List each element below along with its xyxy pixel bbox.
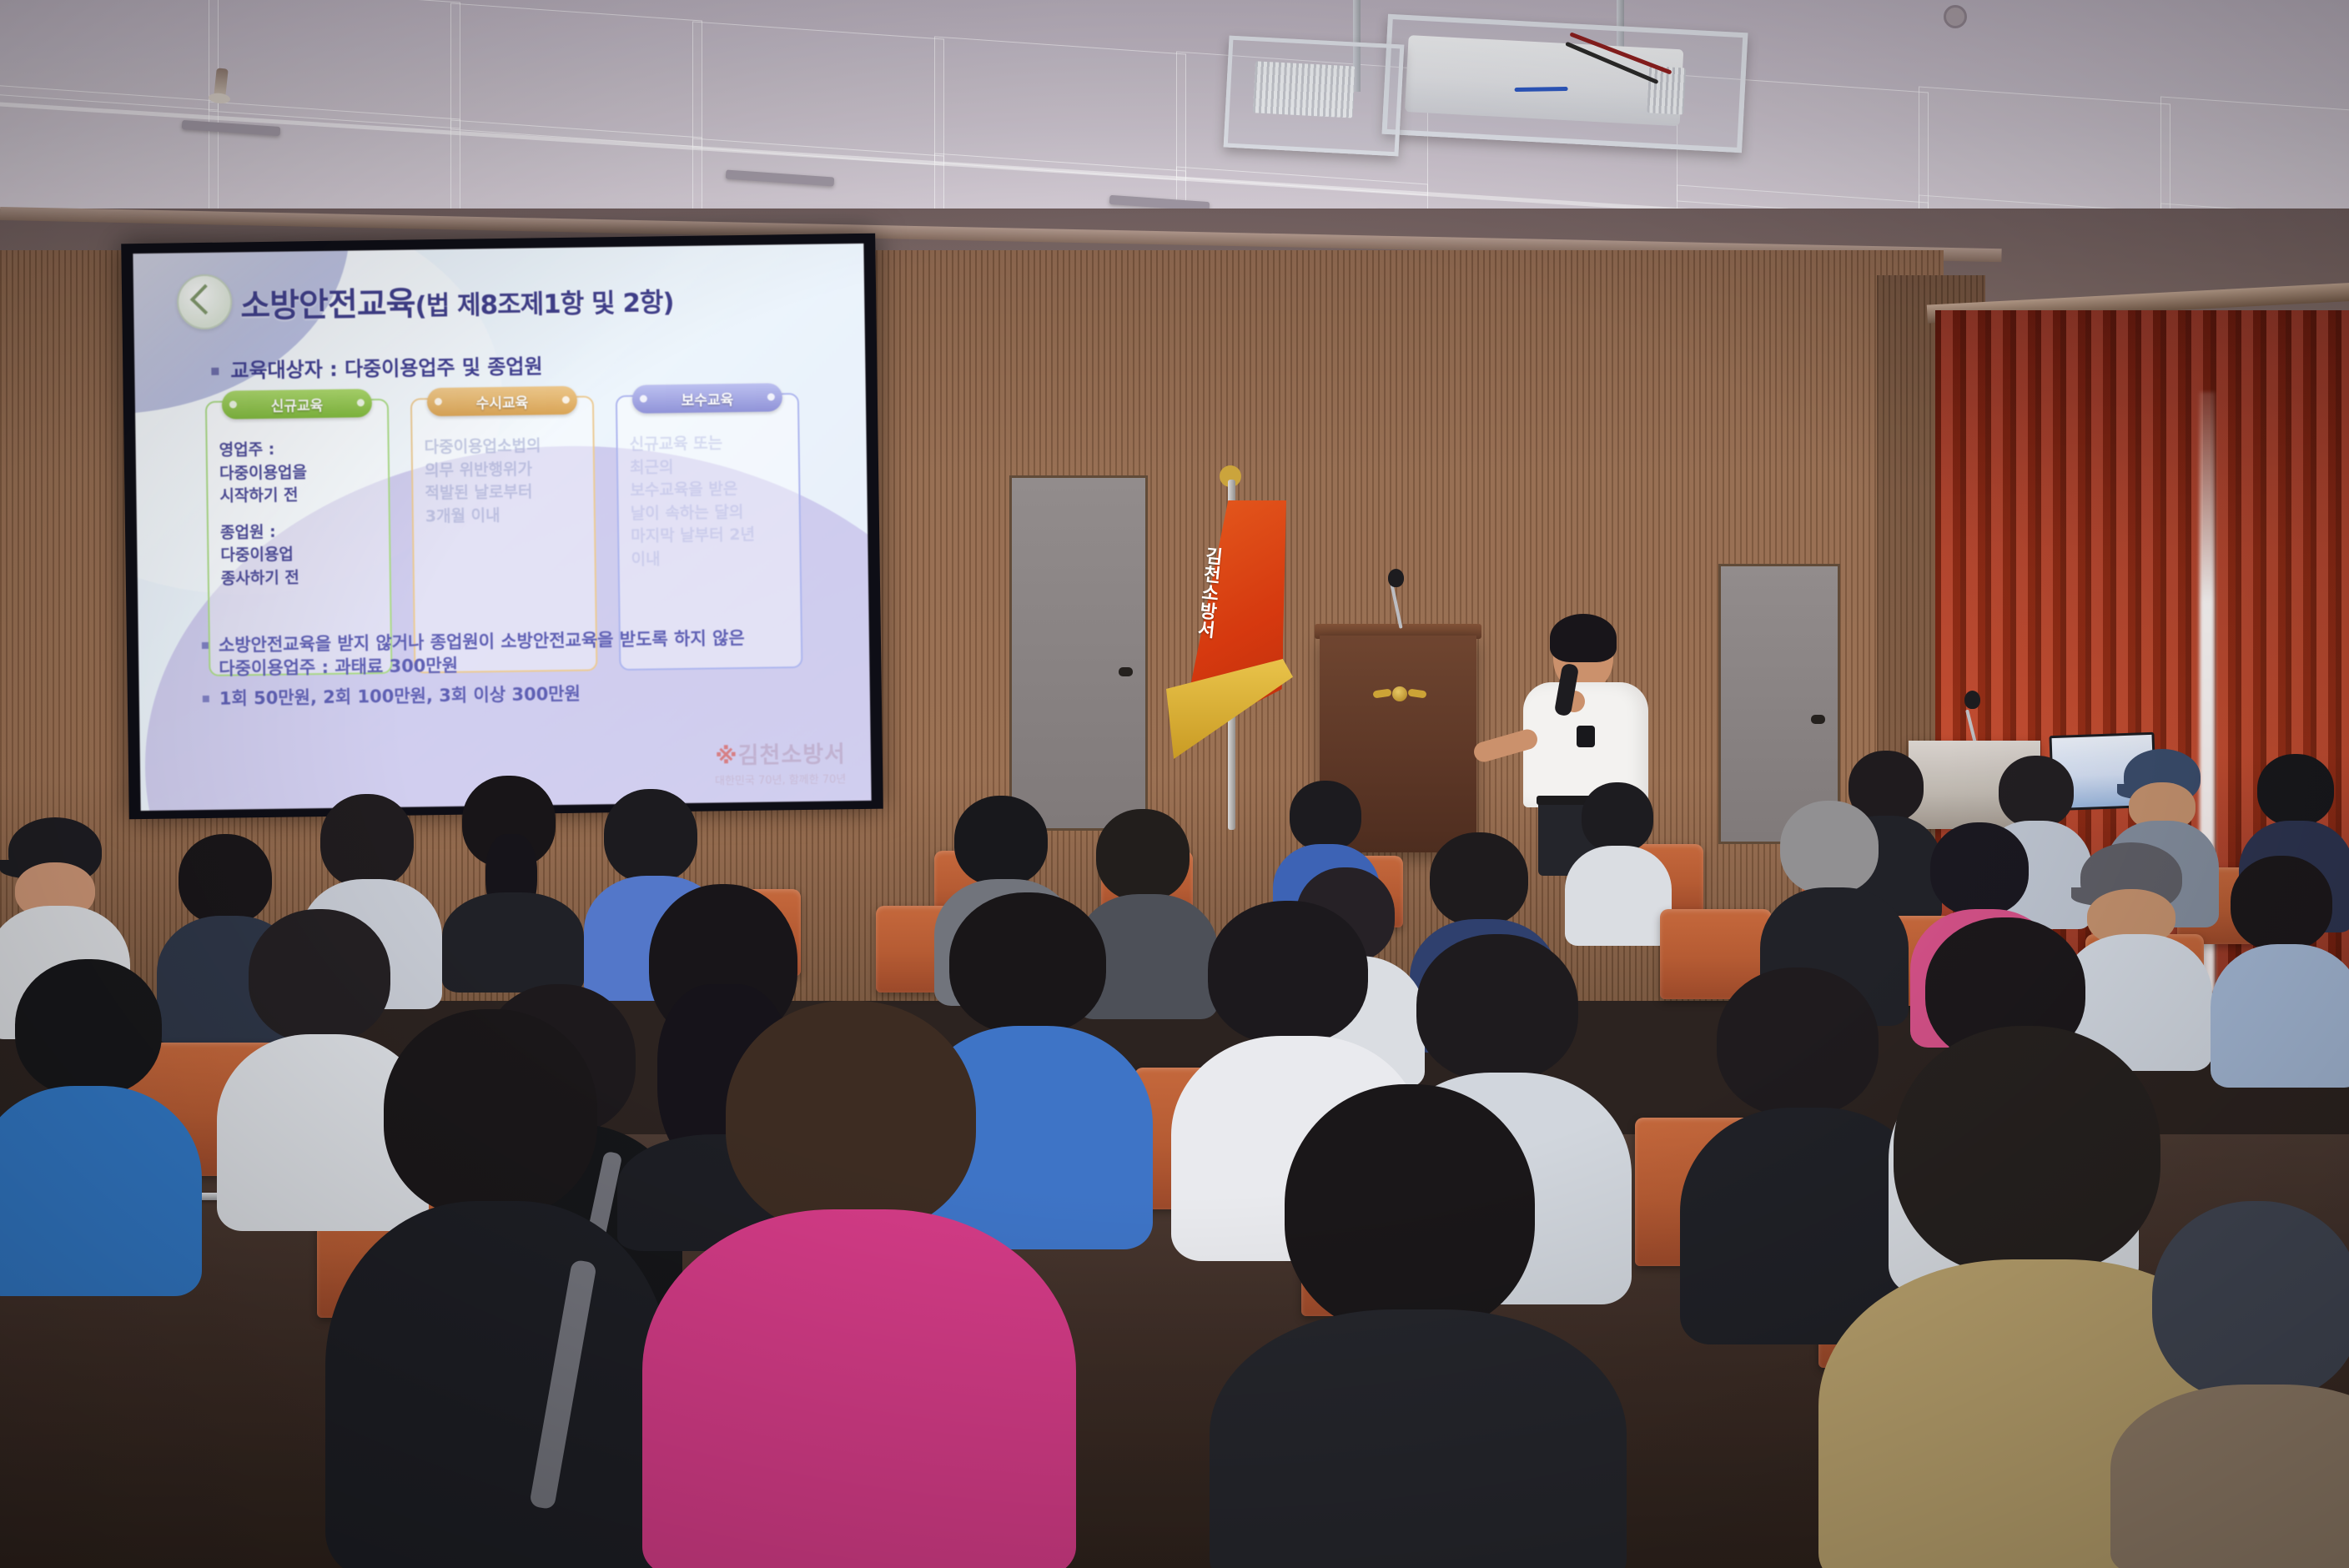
box-line: 최근의 [630,455,787,480]
podium-microphone [1385,567,1410,627]
audience-member [2219,856,2349,1086]
slide-title-main: 소방안전교육 [240,285,415,325]
person-hair [1290,781,1361,851]
wristwatch-icon [1577,726,1595,747]
box-line: 종업원 : [220,520,377,545]
box-line: 다중이용업을 [219,460,376,485]
projection-screen: 소방안전교육(법 제8조제1항 및 2항) 교육대상자 : 다중이용업주 및 종… [121,234,883,820]
projector-cage-side [1224,36,1405,157]
person-torso [642,1209,1076,1568]
box-line: 이내 [631,546,787,571]
person-hair [1096,809,1190,901]
presentation-slide: 소방안전교육(법 제8조제1항 및 2항) 교육대상자 : 다중이용업주 및 종… [133,244,871,811]
person-hair [1999,756,2074,827]
slide-subtitle-text: 교육대상자 : 다중이용업주 및 종업원 [230,354,543,382]
box-line: 다중이용업소법의 [424,435,581,460]
person-torso [0,1086,202,1296]
slide-logo-text: 김천소방서 [737,741,846,769]
box-line: 시작하기 전 [219,483,376,508]
slide-box-caption: 수시교육 [427,386,577,417]
person-hair [954,796,1048,886]
person-hair [1582,782,1653,852]
slide-box-body: 신규교육 또는 최근의 보수교육을 받은 날이 속하는 달의 마지막 날부터 2… [629,431,787,571]
person-hair [1416,934,1578,1081]
box-line: 영업주 : [219,437,376,462]
box-line: 종사하기 전 [221,565,378,591]
footer-bullet: 소방안전교육을 받지 않거나 종업원이 소방안전교육을 받도록 하지 않은 다중… [202,625,837,681]
auditorium-photo: 소방안전교육(법 제8조제1항 및 2항) 교육대상자 : 다중이용업주 및 종… [0,0,2349,1568]
person-torso [1210,1309,1627,1568]
slide-logo: ※김천소방서 대한민국 70년, 함께한 70년 [714,736,846,787]
person-torso [1565,846,1672,946]
person-hair [2152,1201,2349,1401]
audience-member-foreground [2135,1201,2349,1568]
slide-logo-sub: 대한민국 70년, 함께한 70년 [715,770,847,787]
downlight-fixture [1944,5,1967,28]
person-hair [1780,801,1879,894]
person-hair [2257,754,2334,826]
slide-footer-bullets: 소방안전교육을 받지 않거나 종업원이 소방안전교육을 받도록 하지 않은 다중… [202,625,837,716]
person-hair [384,1009,597,1218]
audience-member [0,959,192,1293]
bullet-square-icon [203,696,209,702]
person-hair [604,789,697,882]
person-torso [2211,944,2349,1088]
person-torso [442,892,584,993]
slide-box-caption: 신규교육 [222,389,372,420]
box-line: 다중이용업 [220,542,377,567]
person-hair [726,1001,976,1234]
audience-member [450,776,576,984]
box-line: 의무 위반행위가 [425,457,581,482]
audience-member [1568,782,1668,941]
footer-bullet: 1회 50만원, 2회 100만원, 3회 이상 300만원 [203,678,837,711]
audience-member-foreground [359,1009,634,1568]
slide-box-body: 다중이용업소법의 의무 위반행위가 적발된 날로부터 3개월 이내 [424,435,582,529]
box-line: 적발된 날로부터 [425,480,581,505]
bullet-square-icon [211,368,219,375]
person-hair [1430,832,1528,926]
box-line: 3개월 이내 [425,503,582,528]
person-torso [2110,1385,2349,1568]
side-door-left[interactable] [1009,475,1148,831]
slide-title: 소방안전교육(법 제8조제1항 및 2항) [240,274,674,327]
footer-bullet-text: 1회 50만원, 2회 100만원, 3회 이상 300만원 [219,683,581,708]
box-line: 날이 속하는 달의 [631,500,787,525]
person-hair [1208,901,1368,1044]
logo-mark-icon: ※ [715,743,738,769]
door-handle-icon[interactable] [1119,667,1133,676]
audience-member-foreground [1251,1084,1585,1568]
person-torso [325,1201,669,1568]
audience-member-foreground [692,1001,1026,1568]
person-hair [320,794,414,887]
person-hair [1894,1026,2160,1276]
box-line: 보수교육을 받은 [630,477,787,502]
bullet-square-icon [202,642,209,649]
slide-subtitle: 교육대상자 : 다중이용업주 및 종업원 [211,349,543,384]
slide-box-body: 영업주 : 다중이용업을 시작하기 전 종업원 : 다중이용업 종사하기 전 [219,437,379,591]
box-line: 신규교육 또는 [629,431,786,456]
projector-cage [1382,14,1748,153]
slide-title-paren: (법 제8조제1항 및 2항) [415,288,674,321]
box-line: 마지막 날부터 2년 [631,523,787,548]
slide-logo-main: ※김천소방서 [714,736,846,770]
presenter-hair [1550,614,1617,662]
person-hair [15,959,162,1096]
slide-box-caption: 보수교육 [632,383,782,414]
person-hair [1285,1084,1535,1334]
person-hair [1930,822,2029,916]
door-handle-icon[interactable] [1811,715,1825,724]
fire-service-emblem-icon [1373,684,1426,709]
person-hair [2231,856,2332,951]
person-hair [1717,967,1879,1116]
